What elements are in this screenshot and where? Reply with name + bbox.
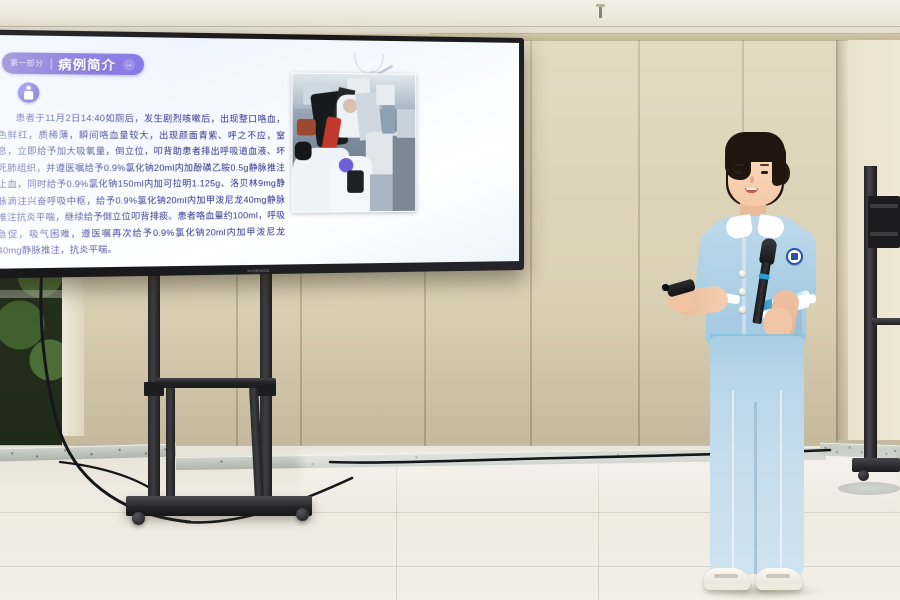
eyebrow bbox=[760, 164, 769, 166]
cart-shelf bbox=[156, 378, 276, 388]
shoe-strap bbox=[714, 574, 738, 578]
cart-caster bbox=[296, 508, 309, 521]
person-circle-icon bbox=[18, 82, 39, 102]
uniform-button bbox=[739, 306, 746, 313]
cart-caster bbox=[132, 512, 145, 525]
eye bbox=[735, 171, 742, 174]
tv-screen: 第一部分 病例简介 → 患者于11月2日14:40如厕后，发生剧烈咳嗽后，出现整… bbox=[0, 35, 519, 269]
fire-sprinkler-icon bbox=[596, 4, 605, 18]
slide-body-text: 患者于11月2日14:40如厕后，发生剧烈咳嗽后，出现整口咯血，色鲜红，质稀薄，… bbox=[0, 110, 285, 260]
secondary-stand-arm bbox=[872, 318, 900, 325]
pants-inseam bbox=[754, 402, 757, 574]
hair-side bbox=[772, 144, 786, 186]
flat-panel-tv: 第一部分 病例简介 → 患者于11月2日14:40如厕后，发生剧烈咳嗽后，出现整… bbox=[0, 29, 524, 278]
pants-crease bbox=[780, 390, 782, 572]
presentation-slide: 第一部分 病例简介 → 患者于11月2日14:40如厕后，发生剧烈咳嗽后，出现整… bbox=[0, 35, 519, 269]
ceiling-seam bbox=[0, 26, 900, 27]
uniform-button bbox=[739, 288, 746, 295]
secondary-stand-base bbox=[852, 458, 900, 472]
arrow-right-icon: → bbox=[123, 59, 135, 71]
slide-title-banner: 第一部分 病例简介 → bbox=[2, 52, 144, 75]
tv-bezel: 第一部分 病例简介 → 患者于11月2日14:40如厕后，发生剧烈咳嗽后，出现整… bbox=[0, 29, 524, 278]
scrub-pants bbox=[710, 374, 804, 574]
presenter bbox=[640, 120, 850, 600]
slide-paragraph: 患者于11月2日14:40如厕后，发生剧烈咳嗽后，出现整口咯血，色鲜红，质稀薄，… bbox=[0, 110, 285, 260]
eye bbox=[761, 171, 768, 174]
pill-divider bbox=[50, 58, 51, 70]
hair-sweep bbox=[725, 142, 751, 180]
slide-clinical-photo bbox=[292, 72, 417, 212]
teeth bbox=[746, 188, 757, 190]
presentation-room-scene: 第一部分 病例简介 → 患者于11月2日14:40如厕后，发生剧烈咳嗽后，出现整… bbox=[0, 0, 900, 600]
shoe-strap bbox=[766, 574, 790, 578]
uniform-button bbox=[739, 270, 746, 277]
eyebrow bbox=[734, 164, 743, 166]
nose bbox=[750, 176, 754, 183]
hospital-badge-icon bbox=[786, 248, 803, 265]
secondary-stand-mount bbox=[868, 196, 900, 248]
cart-inner-post bbox=[166, 388, 175, 500]
shoe-sole bbox=[704, 584, 750, 590]
secondary-stand-caster bbox=[858, 470, 869, 481]
slide-title: 病例简介 bbox=[58, 55, 116, 74]
pants-crease bbox=[732, 390, 734, 572]
shoe-sole bbox=[756, 584, 802, 590]
cart-base bbox=[126, 496, 312, 516]
slide-section-label: 第一部分 bbox=[10, 58, 44, 69]
tv-brand-mark: HISENSE bbox=[247, 268, 269, 274]
